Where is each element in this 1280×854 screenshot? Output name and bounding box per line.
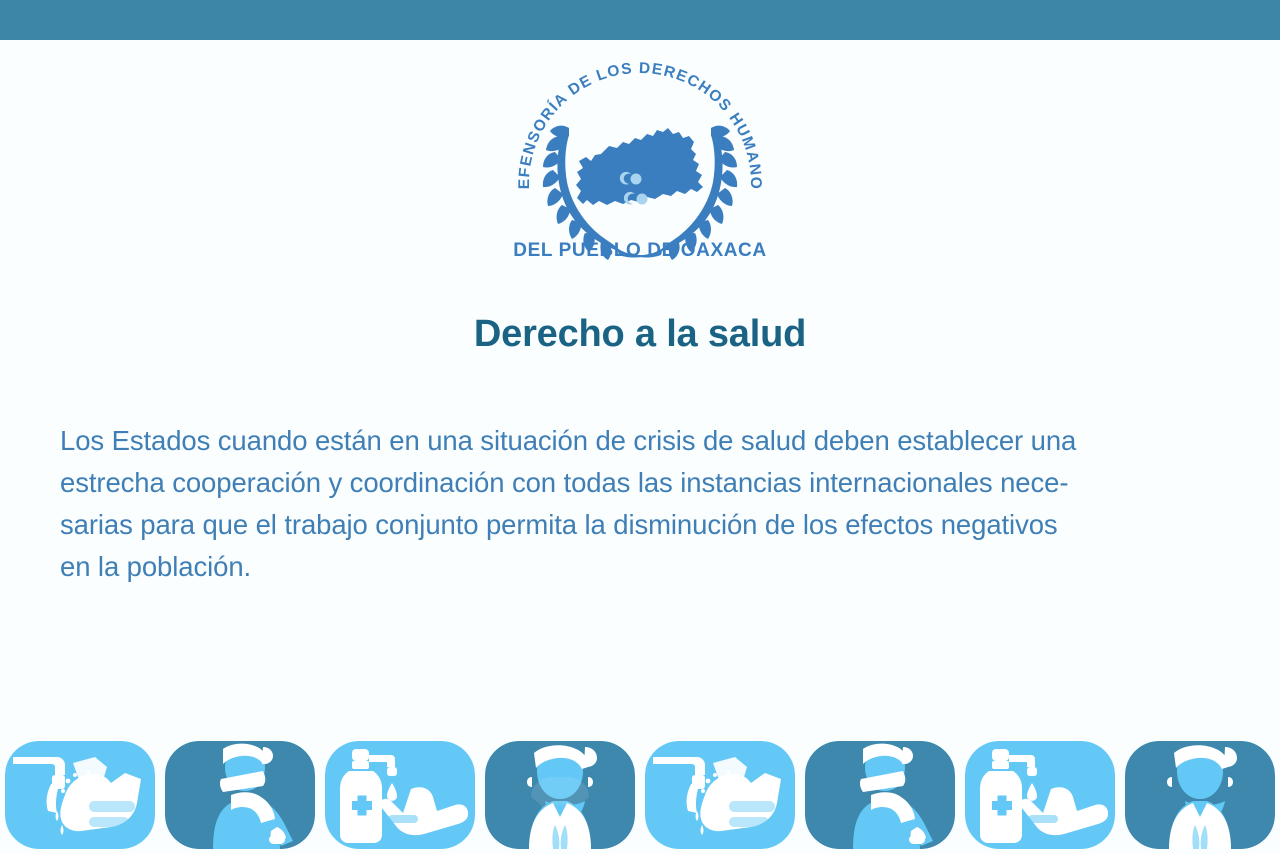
icon-tile [0, 739, 160, 851]
top-accent-band [0, 0, 1280, 40]
cough-into-elbow-icon [165, 741, 315, 849]
paragraph-line: en la población. [60, 546, 1223, 588]
icon-tile [640, 739, 800, 851]
icon-tile [480, 739, 640, 851]
paragraph-line: Los Estados cuando están en una situació… [60, 420, 1223, 462]
page-title: Derecho a la salud [0, 313, 1280, 356]
icon-tile [160, 739, 320, 851]
icon-tile [800, 739, 960, 851]
icon-tile [1120, 739, 1280, 851]
hand-sanitizer-bottle-icon [965, 741, 1115, 849]
handwashing-under-tap-icon [5, 741, 155, 849]
logo-bottom-text: DEL PUEBLO DE OAXACA [513, 240, 766, 261]
hand-sanitizer-bottle-icon [325, 741, 475, 849]
oaxaca-map-shape [576, 128, 703, 205]
body-paragraph: Los Estados cuando están en una situació… [60, 420, 1223, 588]
slide-canvas: DEFENSORÍA DE LOS DERECHOS HUMANOS [0, 0, 1280, 854]
icon-tile [320, 739, 480, 851]
person-wearing-face-mask-icon [1125, 741, 1275, 849]
paragraph-line: sarias para que el trabajo conjunto perm… [60, 504, 1223, 546]
institution-logo: DEFENSORÍA DE LOS DERECHOS HUMANOS [0, 58, 1280, 263]
paragraph-line: estrecha cooperación y coordinación con … [60, 462, 1223, 504]
handwashing-under-tap-icon [645, 741, 795, 849]
cough-into-elbow-icon [805, 741, 955, 849]
prevention-icon-strip [0, 735, 1280, 854]
person-wearing-face-mask-icon [485, 741, 635, 849]
icon-tile [960, 739, 1120, 851]
